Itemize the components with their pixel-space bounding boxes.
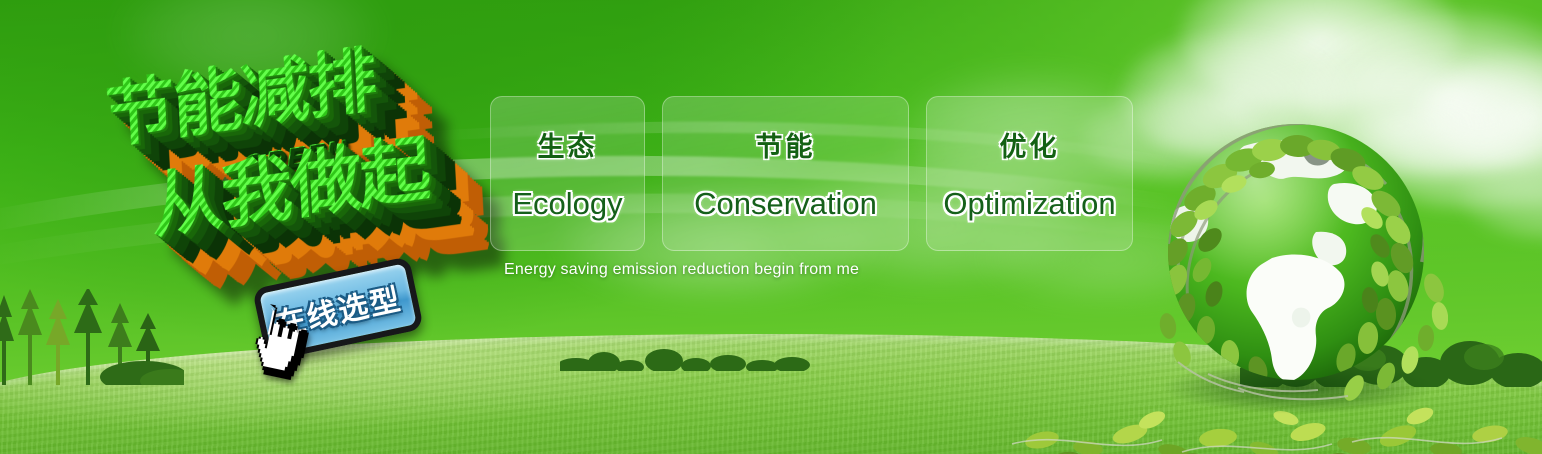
card-optimization[interactable]: 优化 Optimization <box>926 96 1133 251</box>
online-selection-label: 在线选型 <box>271 274 405 344</box>
feature-card-list: 生态 Ecology 节能 Conservation 优化 Optimizati… <box>490 96 1133 251</box>
card-optimization-cn: 优化 <box>1000 125 1060 164</box>
card-optimization-en: Optimization <box>943 186 1115 222</box>
card-conservation-en: Conservation <box>694 186 877 222</box>
grass-texture <box>0 334 1542 454</box>
eco-promo-banner: 节能减排 GREEN 从我做起 在线选型 生态 Ecology 节能 Conse… <box>0 0 1542 454</box>
banner-subtitle: Energy saving emission reduction begin f… <box>504 261 859 279</box>
card-ecology[interactable]: 生态 Ecology <box>490 96 645 251</box>
card-conservation-cn: 节能 <box>756 125 816 164</box>
card-conservation[interactable]: 节能 Conservation <box>662 96 909 251</box>
card-ecology-cn: 生态 <box>538 125 598 164</box>
grass-field-icon <box>0 334 1542 454</box>
card-ecology-en: Ecology <box>512 186 622 222</box>
